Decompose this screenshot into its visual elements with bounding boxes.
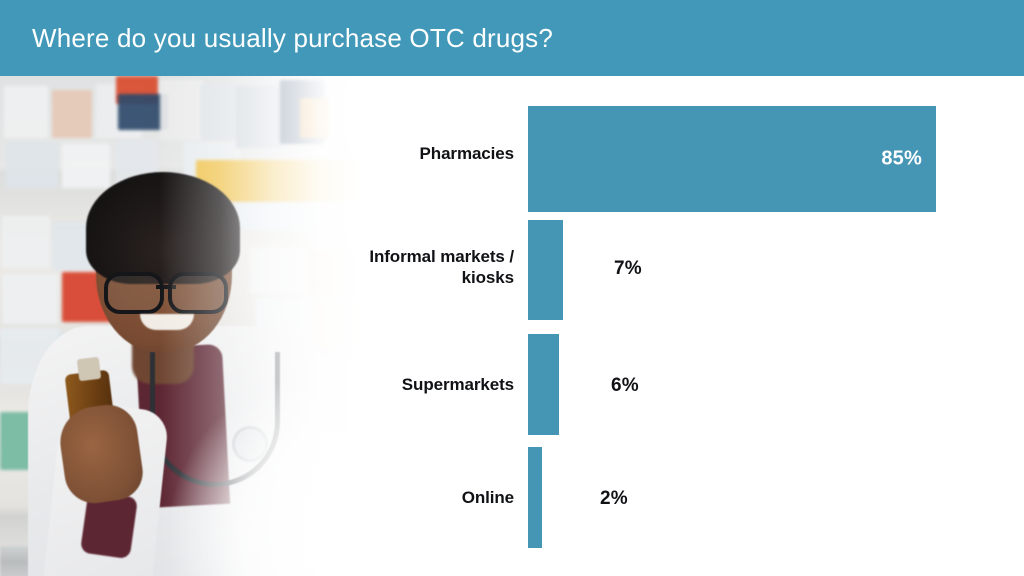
category-label-line1: Pharmacies (420, 144, 514, 163)
category-label-supermarkets: Supermarkets (254, 375, 514, 396)
slide: Where do you usually purchase OTC drugs? (0, 0, 1024, 576)
category-label-informal-markets: Informal markets / kiosks (254, 247, 514, 288)
bar-value-supermarkets: 6% (611, 375, 639, 397)
bar-value-pharmacies: 85% (881, 148, 922, 171)
category-label-line1: Supermarkets (402, 375, 514, 394)
bar-value-informal-markets: 7% (614, 258, 642, 280)
category-label-pharmacies: Pharmacies (254, 144, 514, 165)
chart-row: Supermarkets 6% (0, 334, 1024, 435)
bar-informal-markets[interactable] (528, 220, 563, 320)
page-title: Where do you usually purchase OTC drugs? (32, 23, 553, 54)
category-label-line2: kiosks (462, 268, 514, 287)
category-label-online: Online (254, 488, 514, 509)
category-label-line1: Online (462, 488, 514, 507)
category-label-line1: Informal markets / (369, 247, 514, 266)
chart-row: Pharmacies 85% (0, 106, 1024, 212)
bar-value-online: 2% (600, 488, 628, 510)
chart-row: Informal markets / kiosks 7% (0, 220, 1024, 320)
chart-row: Online 2% (0, 447, 1024, 548)
bar-chart: Pharmacies 85% Informal markets / kiosks… (0, 76, 1024, 576)
bar-pharmacies[interactable]: 85% (528, 106, 936, 212)
bar-supermarkets[interactable] (528, 334, 559, 435)
bar-online[interactable] (528, 447, 542, 548)
